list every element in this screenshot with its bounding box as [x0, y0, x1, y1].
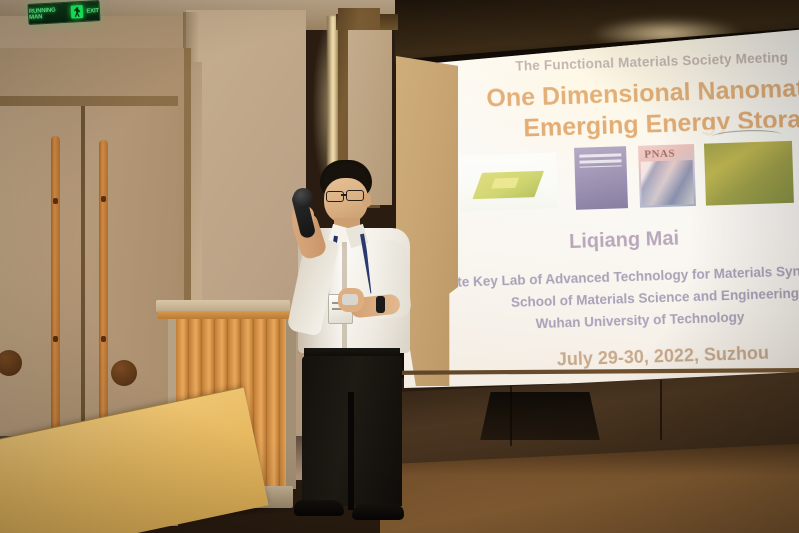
exit-sign: RUNNING MAN EXIT	[27, 0, 100, 25]
microphone-head	[293, 188, 313, 208]
pnas-cover-art	[641, 160, 694, 206]
eyeglasses-left-lens	[326, 191, 344, 202]
pnas-masthead-label: PNAS	[644, 148, 675, 161]
schematic-electrode	[491, 178, 519, 189]
panel-seam	[660, 380, 662, 440]
thumbnail-device-schematic	[458, 152, 558, 211]
trouser-leg-gap	[348, 392, 354, 510]
shoe-left	[294, 500, 344, 516]
door-handle-left[interactable]	[51, 136, 60, 466]
handle-screw-icon	[53, 198, 58, 204]
slide-affiliation-3: Wuhan University of Technology	[535, 309, 744, 331]
handle-screw-icon	[101, 336, 106, 342]
slide-thumbnail-row: PNAS	[458, 140, 799, 214]
presenter	[278, 160, 418, 533]
slide-affiliation-2: School of Materials Science and Engineer…	[511, 286, 799, 310]
slide-banner: The Functional Materials Society Meeting	[515, 50, 788, 74]
handle-screw-icon	[101, 196, 106, 202]
presentation-clicker[interactable]	[342, 294, 358, 305]
presentation-slide: The Functional Materials Society Meeting…	[404, 28, 799, 388]
slide-speaker-name: Liqiang Mai	[569, 228, 680, 255]
podium-front-lip	[158, 311, 290, 319]
thumbnail-sem-micrograph	[704, 141, 794, 206]
shoe-right	[352, 504, 404, 520]
conference-room-photo: RUNNING MAN EXIT The Functional Material…	[0, 0, 799, 533]
journal-masthead	[579, 153, 621, 167]
thumbnail-pnas-cover: PNAS	[638, 144, 696, 208]
thumbnail-advanced-materials-cover	[574, 146, 628, 210]
eyeglasses-right-lens	[346, 190, 364, 201]
door-header	[0, 96, 178, 106]
wristwatch	[376, 296, 385, 313]
exit-sign-left-label: RUNNING MAN	[29, 6, 69, 20]
slide-affiliation-1: State Key Lab of Advanced Technology for…	[436, 262, 799, 290]
running-man-icon	[71, 5, 84, 19]
background-table-legs	[475, 392, 605, 440]
handle-screw-icon	[53, 336, 58, 342]
eyeglasses-bridge	[341, 194, 347, 196]
slide-date-location: July 29-30, 2022, Suzhou	[557, 343, 770, 371]
door-knob-right[interactable]	[111, 360, 137, 386]
exit-sign-right-label: EXIT	[86, 8, 99, 15]
projection-screen[interactable]: The Functional Materials Society Meeting…	[404, 28, 799, 388]
